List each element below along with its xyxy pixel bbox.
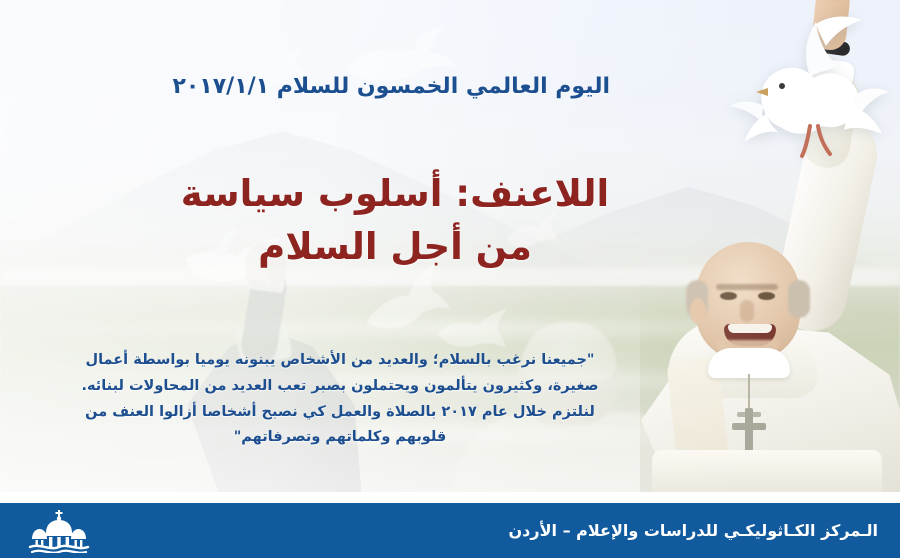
background-photo: اليوم العالمي الخمسون للسلام ٢٠١٧/١/١ ال… [0, 0, 900, 492]
quote-line: قلوبهم وكلماتهم وتصرفاتهم" [60, 425, 620, 451]
poster-headline: اللاعنف: أسلوب سياسة من أجل السلام [180, 168, 610, 273]
headline-line-2: من أجل السلام [180, 221, 610, 274]
quote-line: "جميعنا نرغب بالسلام؛ والعديد من الأشخاص… [60, 348, 620, 374]
organization-name: الـمركز الكـاثوليكـي للدراسات والإعلام –… [509, 503, 878, 558]
message-quote: "جميعنا نرغب بالسلام؛ والعديد من الأشخاص… [60, 348, 620, 451]
quote-line: لنلتزم خلال عام ٢٠١٧ بالصلاة والعمل كي ن… [60, 400, 620, 426]
peace-day-poster: اليوم العالمي الخمسون للسلام ٢٠١٧/١/١ ال… [0, 0, 900, 558]
footer-bar: الـمركز الكـاثوليكـي للدراسات والإعلام –… [0, 503, 900, 558]
headline-line-1: اللاعنف: أسلوب سياسة [181, 172, 609, 215]
catholic-center-dome-logo-icon [28, 509, 90, 553]
event-date-line: اليوم العالمي الخمسون للسلام ٢٠١٧/١/١ [172, 74, 610, 99]
footer-gap [0, 492, 900, 503]
quote-line: صغيرة، وكثيرون يتألمون ويحتملون بصبر تعب… [60, 374, 620, 400]
